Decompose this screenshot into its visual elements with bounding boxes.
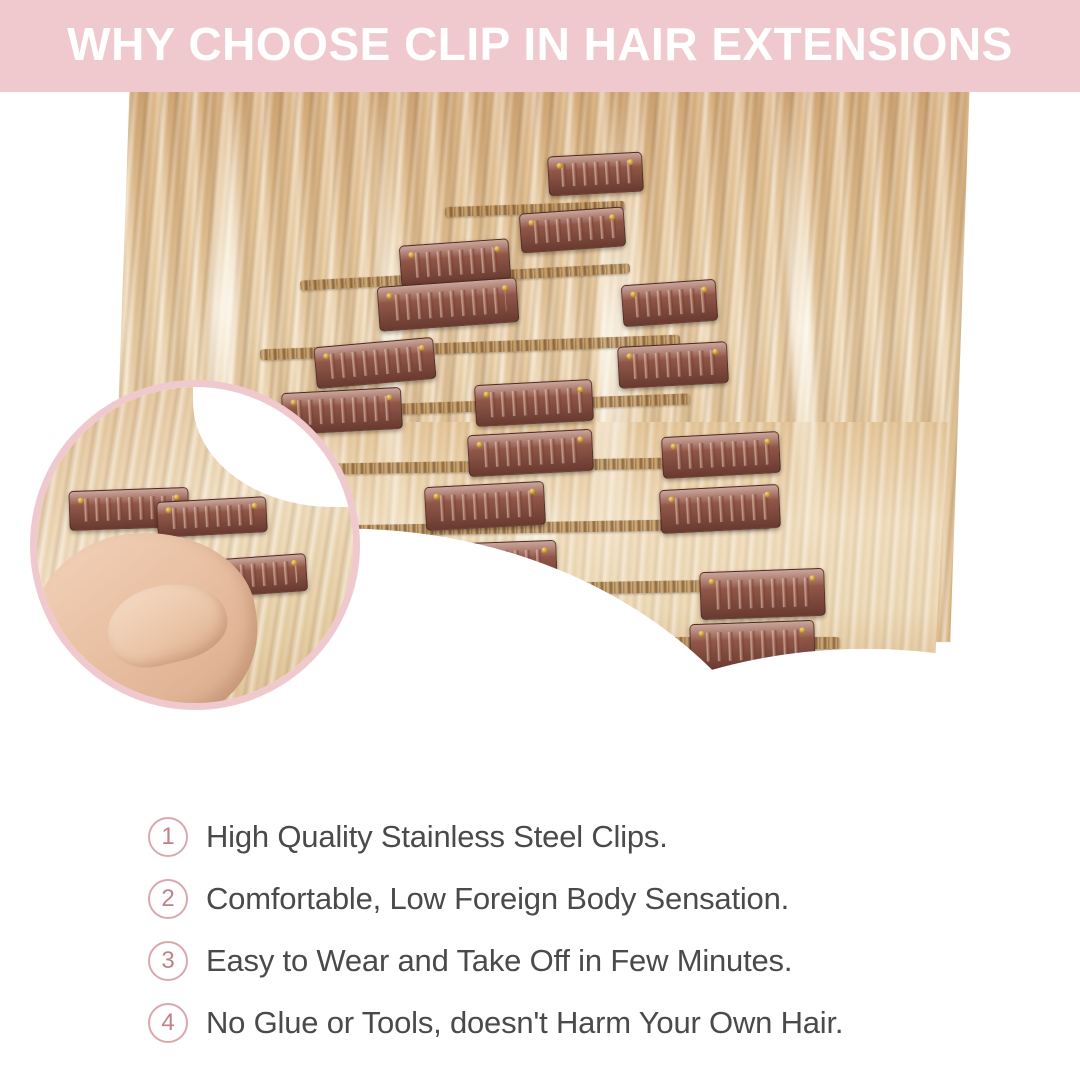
hair-clip	[699, 568, 826, 620]
feature-number-badge: 2	[148, 879, 188, 919]
hair-clip	[547, 152, 644, 197]
hair-clip	[474, 379, 594, 427]
feature-number-badge: 3	[148, 941, 188, 981]
list-item: 1 High Quality Stainless Steel Clips.	[0, 806, 1080, 868]
feature-text: Easy to Wear and Take Off in Few Minutes…	[206, 943, 792, 979]
hair-clip	[661, 431, 781, 479]
hair-clip	[424, 481, 546, 531]
feature-number-badge: 4	[148, 1003, 188, 1043]
list-item: 4 No Glue or Tools, doesn't Harm Your Ow…	[0, 992, 1080, 1054]
hair-clip	[519, 206, 627, 253]
feature-text: High Quality Stainless Steel Clips.	[206, 819, 668, 855]
hair-clip	[659, 484, 781, 534]
feature-text: No Glue or Tools, doesn't Harm Your Own …	[206, 1005, 843, 1041]
header-banner: WHY CHOOSE CLIP IN HAIR EXTENSIONS	[0, 0, 1080, 92]
product-infographic: WHY CHOOSE CLIP IN HAIR EXTENSIONS	[0, 0, 1080, 1080]
feature-list: 1 High Quality Stainless Steel Clips. 2 …	[0, 800, 1080, 1080]
hair-clip	[621, 279, 719, 328]
page-title: WHY CHOOSE CLIP IN HAIR EXTENSIONS	[67, 21, 1013, 71]
hair-clip	[156, 496, 268, 538]
inset-closeup-photo	[30, 380, 360, 710]
feature-text: Comfortable, Low Foreign Body Sensation.	[206, 881, 789, 917]
feature-number-badge: 1	[148, 817, 188, 857]
list-item: 2 Comfortable, Low Foreign Body Sensatio…	[0, 868, 1080, 930]
list-item: 3 Easy to Wear and Take Off in Few Minut…	[0, 930, 1080, 992]
hair-clip	[617, 341, 729, 389]
hair-clip	[467, 429, 594, 477]
